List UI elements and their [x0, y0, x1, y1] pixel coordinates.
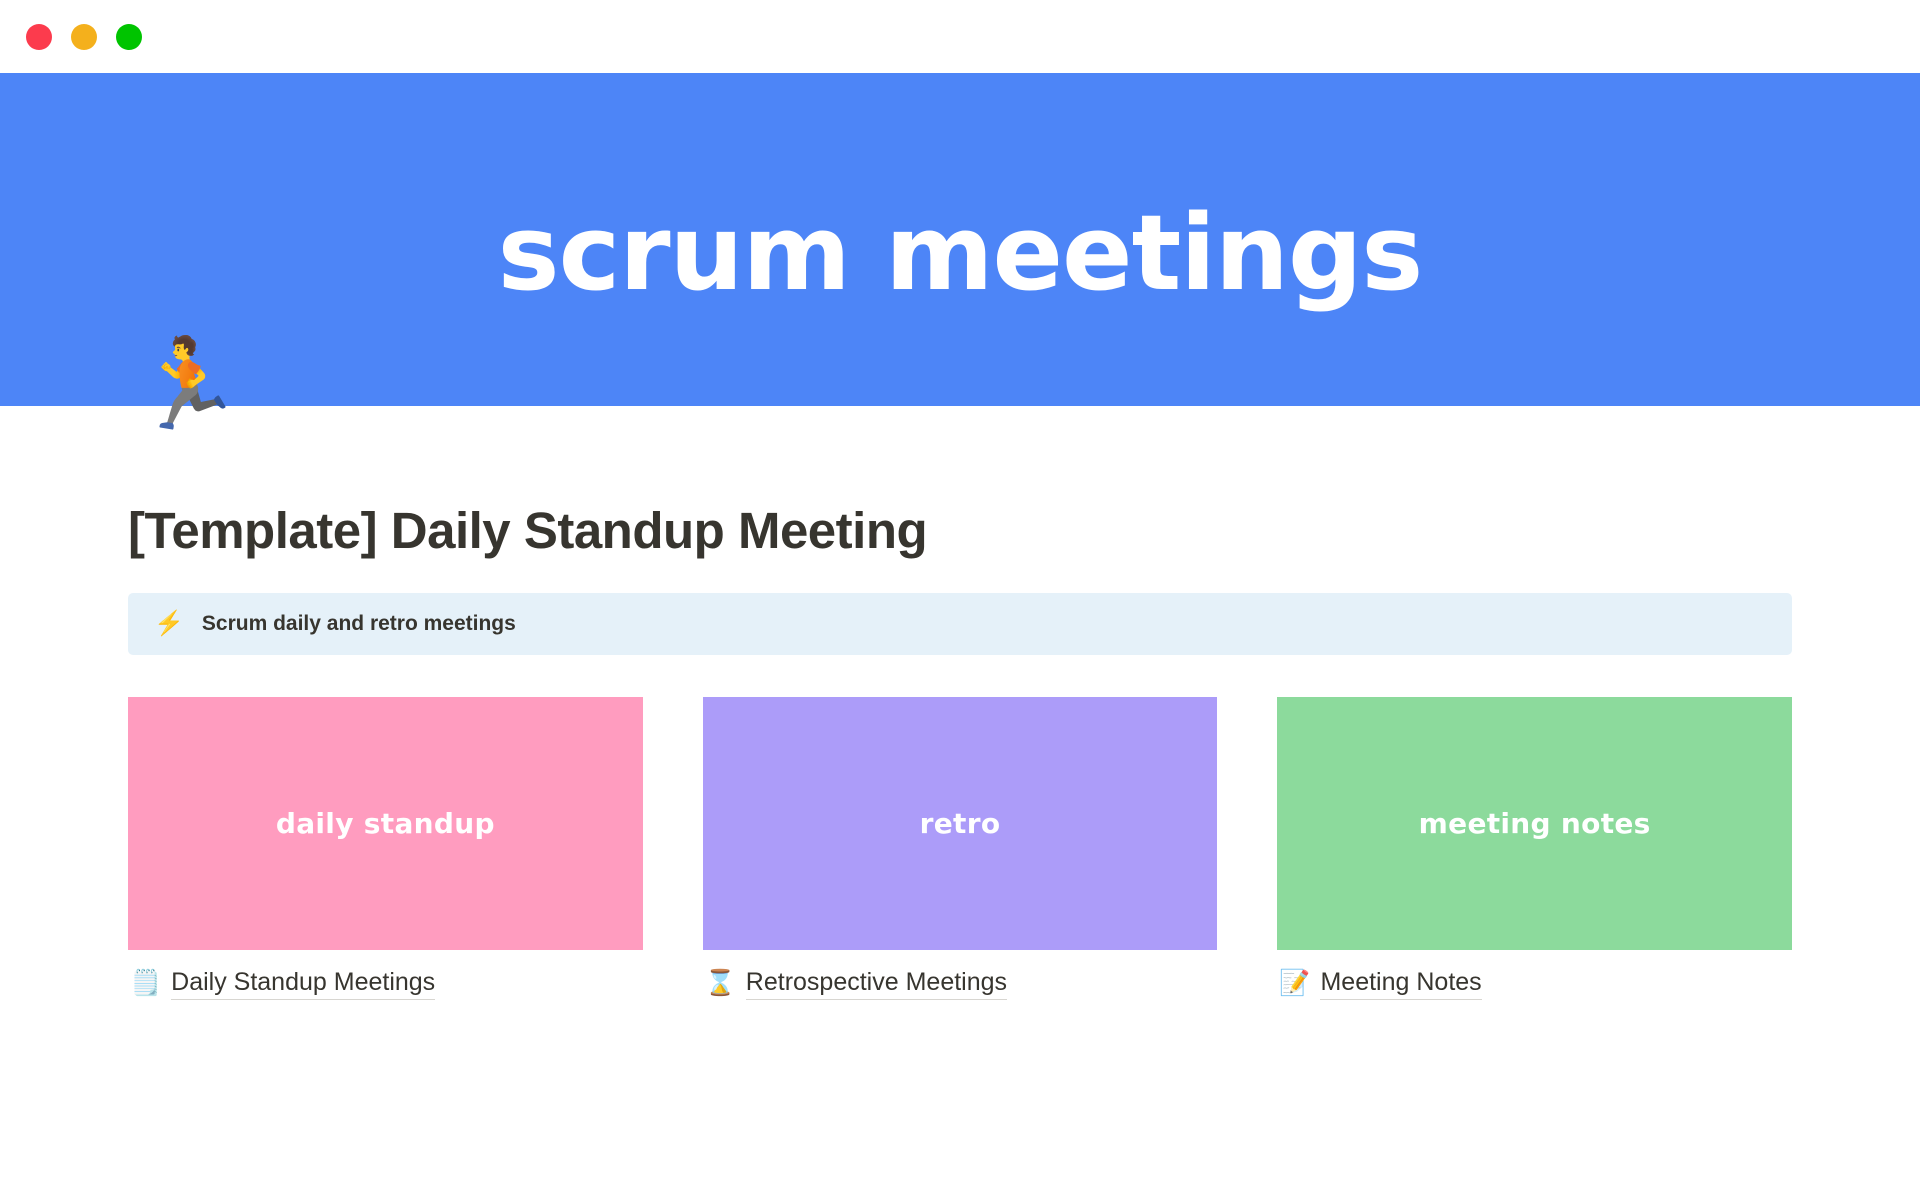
hero-banner: scrum meetings: [0, 73, 1920, 406]
card-banner-retro[interactable]: retro: [703, 697, 1218, 950]
page-content: [Template] Daily Standup Meeting ⚡ Scrum…: [0, 406, 1920, 1200]
memo-icon: 📝: [1279, 971, 1310, 996]
card-caption-meeting-notes: 📝 Meeting Notes: [1277, 968, 1792, 1000]
close-button[interactable]: [26, 24, 52, 50]
card-daily-standup: daily standup 🗒️ Daily Standup Meetings: [128, 697, 643, 1000]
card-link-meeting-notes[interactable]: Meeting Notes: [1320, 968, 1481, 1000]
maximize-button[interactable]: [116, 24, 142, 50]
callout-text: Scrum daily and retro meetings: [202, 612, 516, 636]
card-banner-label: retro: [920, 807, 1001, 840]
window-titlebar: [0, 0, 1920, 73]
card-caption-retro: ⌛ Retrospective Meetings: [703, 968, 1218, 1000]
card-link-daily-standup[interactable]: Daily Standup Meetings: [171, 968, 435, 1000]
card-link-retrospective-meetings[interactable]: Retrospective Meetings: [746, 968, 1007, 1000]
runner-emoji[interactable]: 🏃: [133, 340, 243, 428]
hourglass-icon: ⌛: [705, 971, 736, 996]
window-controls: [26, 24, 142, 50]
lightning-bolt-icon: ⚡: [154, 612, 184, 636]
card-banner-daily-standup[interactable]: daily standup: [128, 697, 643, 950]
card-banner-label: meeting notes: [1419, 807, 1651, 840]
page-title: [Template] Daily Standup Meeting: [128, 502, 1792, 561]
spiral-notepad-icon: 🗒️: [130, 971, 161, 996]
minimize-button[interactable]: [71, 24, 97, 50]
card-banner-label: daily standup: [276, 807, 495, 840]
card-grid: daily standup 🗒️ Daily Standup Meetings …: [128, 697, 1792, 1000]
card-retro: retro ⌛ Retrospective Meetings: [703, 697, 1218, 1000]
callout-block: ⚡ Scrum daily and retro meetings: [128, 593, 1792, 655]
card-caption-daily-standup: 🗒️ Daily Standup Meetings: [128, 968, 643, 1000]
hero-title: scrum meetings: [498, 201, 1423, 305]
card-banner-meeting-notes[interactable]: meeting notes: [1277, 697, 1792, 950]
card-meeting-notes: meeting notes 📝 Meeting Notes: [1277, 697, 1792, 1000]
app-window: scrum meetings 🏃 [Template] Daily Standu…: [0, 0, 1920, 1200]
